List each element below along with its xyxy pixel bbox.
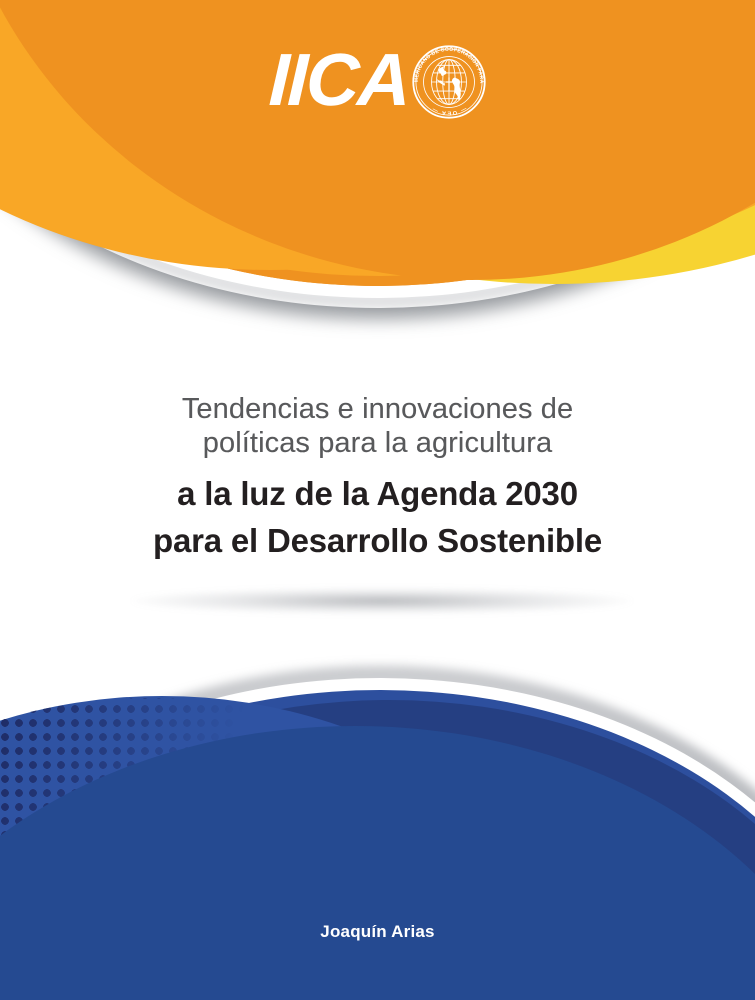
cover-title-block: Tendencias e innovaciones de políticas p… — [0, 392, 755, 564]
cover-author: Joaquín Arias — [0, 922, 755, 942]
footer-blue-band — [0, 640, 755, 1000]
iica-globe-emblem-icon: INSTITUTO INTERAMERICANO DE COOPERACIÓN … — [411, 44, 487, 120]
cover-subtitle-line-2: políticas para la agricultura — [0, 426, 755, 460]
iica-wordmark: IICA — [267, 43, 410, 117]
cover-main-title-line-2: para el Desarrollo Sostenible — [0, 517, 755, 564]
cover-main-title-line-1: a la luz de la Agenda 2030 — [0, 470, 755, 517]
cover-page: IICA INSTITUTO INTERAMERICANO DE COOPERA… — [0, 0, 755, 1000]
cover-subtitle-line-1: Tendencias e innovaciones de — [0, 392, 755, 426]
cover-main-title: a la luz de la Agenda 2030 para el Desar… — [0, 470, 755, 564]
svg-text:— OEA —: — OEA — — [430, 105, 467, 116]
cover-subtitle: Tendencias e innovaciones de políticas p… — [0, 392, 755, 460]
title-block-shadow — [132, 588, 632, 614]
footer-blue-bottom-fill — [0, 890, 755, 1000]
iica-logo: IICA INSTITUTO INTERAMERICANO DE COOPERA… — [0, 30, 755, 130]
svg-text:INSTITUTO INTERAMERICANO DE CO: INSTITUTO INTERAMERICANO DE COOPERACIÓN … — [411, 44, 484, 84]
